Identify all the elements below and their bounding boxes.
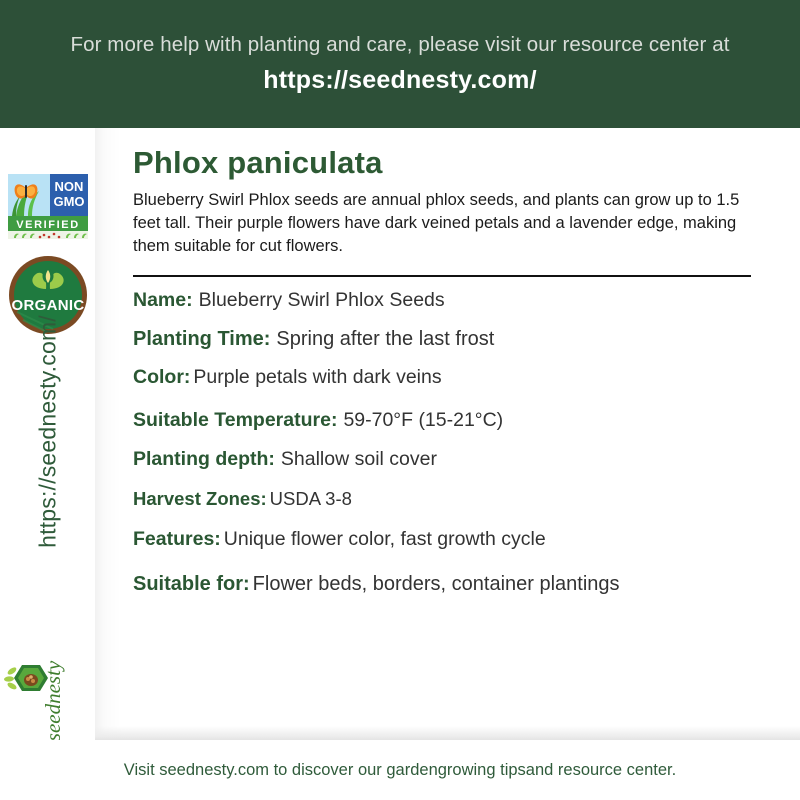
spec-label: Suitable for: <box>133 573 250 596</box>
spec-value: 59-70°F (15-21°C) <box>343 409 503 432</box>
spec-label: Planting Time: <box>133 328 270 351</box>
spec-row-features: Features: Unique flower color, fast grow… <box>133 528 788 551</box>
non-gmo-verified-badge: NON GMO VERIFIED <box>6 172 90 240</box>
spec-row-color: Color: Purple petals with dark veins <box>133 366 788 389</box>
spec-row-name: Name: Blueberry Swirl Phlox Seeds <box>133 289 788 312</box>
header-website-url[interactable]: https://seednesty.com/ <box>263 66 536 95</box>
spec-label: Name: <box>133 289 193 312</box>
spec-row-planting-depth: Planting depth: Shallow soil cover <box>133 448 788 471</box>
sidebar-vertical-url[interactable]: https://seednesty.com/ <box>35 302 62 562</box>
product-description: Blueberry Swirl Phlox seeds are annual p… <box>133 189 755 258</box>
svg-text:GMO: GMO <box>53 194 84 209</box>
spec-label: Features: <box>133 528 221 551</box>
spec-value: Flower beds, borders, container planting… <box>253 573 620 596</box>
product-info-card: Phlox paniculata Blueberry Swirl Phlox s… <box>95 128 800 740</box>
spec-value: Shallow soil cover <box>281 448 437 471</box>
header-help-text: For more help with planting and care, pl… <box>52 33 747 58</box>
seednesty-logo-icon: seednesty <box>2 643 90 753</box>
section-divider <box>133 275 751 277</box>
footer-text: Visit seednesty.com to discover our gard… <box>124 761 676 780</box>
spec-value: Blueberry Swirl Phlox Seeds <box>199 289 445 312</box>
svg-text:VERIFIED: VERIFIED <box>16 219 80 231</box>
footer-bar: Visit seednesty.com to discover our gard… <box>0 740 800 800</box>
spec-value: Purple petals with dark veins <box>193 366 441 389</box>
spec-label: Color: <box>133 366 190 389</box>
spec-label: Planting depth: <box>133 448 275 471</box>
spec-value: Unique flower color, fast growth cycle <box>224 528 546 551</box>
non-gmo-verified-icon: NON GMO VERIFIED <box>6 172 90 240</box>
page-title: Phlox paniculata <box>133 146 788 180</box>
seed-packet-page: For more help with planting and care, pl… <box>0 0 800 800</box>
specs-list: Name: Blueberry Swirl Phlox Seeds Planti… <box>133 289 788 596</box>
spec-value: USDA 3-8 <box>270 488 352 510</box>
spec-row-planting-time: Planting Time: Spring after the last fro… <box>133 328 788 351</box>
seednesty-logo: seednesty <box>2 643 90 753</box>
spec-row-suitable-for: Suitable for: Flower beds, borders, cont… <box>133 573 788 596</box>
spec-row-suitable-temperature: Suitable Temperature: 59-70°F (15-21°C) <box>133 409 788 432</box>
spec-row-harvest-zones: Harvest Zones: USDA 3-8 <box>133 488 788 510</box>
spec-label: Suitable Temperature: <box>133 409 337 432</box>
svg-text:NON: NON <box>55 179 84 194</box>
spec-label: Harvest Zones: <box>133 488 267 510</box>
svg-text:seednesty: seednesty <box>41 660 65 741</box>
header-banner: For more help with planting and care, pl… <box>0 0 800 128</box>
left-sidebar: NON GMO VERIFIED <box>0 128 95 800</box>
spec-value: Spring after the last frost <box>276 328 494 351</box>
